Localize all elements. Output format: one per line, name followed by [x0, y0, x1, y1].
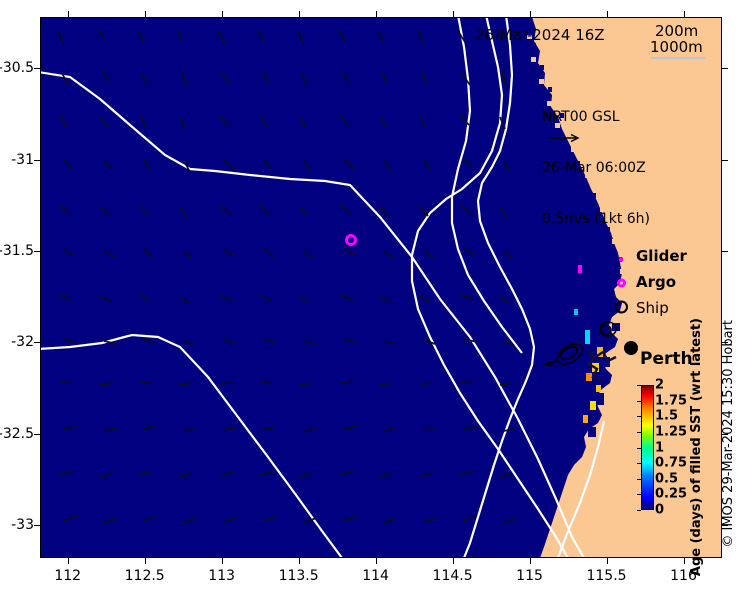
argo-marker — [347, 236, 356, 245]
y-tickmark-right — [722, 251, 728, 252]
argo-ring-icon — [612, 273, 630, 292]
colorbar-tick-label: 0.5 — [655, 471, 678, 486]
colorbar-tickmark — [637, 448, 641, 449]
date-stamp: 26-Mar-2024 16Z — [475, 26, 605, 44]
glider-dot-icon — [612, 247, 630, 266]
x-tickmark — [145, 558, 146, 564]
colorbar-tick-label: 0 — [655, 503, 664, 518]
colorbar-tick-label: 0.25 — [655, 487, 687, 502]
colorbar-tick-label: 2 — [655, 378, 664, 393]
legend-item-glider[interactable]: Glider — [612, 243, 722, 269]
x-axis-tick-label: 116 — [670, 568, 697, 584]
colorbar-title: Age (days) of filled SST (wrt latest) — [689, 318, 704, 576]
colorbar-tickmark — [637, 494, 641, 495]
colorbar-tickmark — [637, 463, 641, 464]
x-tickmark — [376, 558, 377, 564]
glider-track — [588, 350, 616, 380]
y-tickmark-right — [722, 160, 728, 161]
x-axis-tick-label: 115.5 — [586, 568, 626, 584]
y-tickmark — [34, 160, 40, 161]
legend-label-argo: Argo — [636, 273, 676, 291]
x-tickmark — [222, 558, 223, 564]
legend-item-argo[interactable]: Argo — [612, 269, 722, 295]
colorbar-tick-label: 1 — [655, 440, 664, 455]
legend-item-ship[interactable]: Ship — [612, 295, 722, 321]
colorbar-tick-label: 1.5 — [655, 409, 678, 424]
colorbar-tick-label: 1.25 — [655, 424, 687, 439]
y-axis-tick-label: -33 — [0, 517, 34, 533]
y-tickmark-right — [722, 525, 728, 526]
colorbar-tickmark — [637, 401, 641, 402]
x-axis-tick-label: 112.5 — [125, 568, 165, 584]
colorbar-tick-label: 1.75 — [655, 393, 687, 408]
model-name: NRT00 GSL — [542, 109, 650, 126]
colorbar-tickmark — [637, 432, 641, 433]
x-tickmark-top — [68, 11, 69, 17]
colorbar-gradient — [641, 385, 654, 510]
x-tickmark — [453, 558, 454, 564]
x-tickmark — [299, 558, 300, 564]
colorbar-tickmark — [637, 510, 641, 511]
model-valid-time: 26-Mar 06:00Z — [542, 160, 650, 177]
y-axis-tick-label: -31.5 — [0, 243, 34, 259]
y-axis-tick-label: -31 — [0, 152, 34, 168]
x-axis-tick-label: 113.5 — [279, 568, 319, 584]
colorbar-tick-label: 0.75 — [655, 456, 687, 471]
y-tickmark — [34, 251, 40, 252]
y-tickmark-right — [722, 342, 728, 343]
y-tickmark-right — [722, 434, 728, 435]
x-tickmark-top — [607, 11, 608, 17]
y-tickmark — [34, 342, 40, 343]
model-annotation: NRT00 GSL 26-Mar 06:00Z 0.5m/s (1kt 6h) — [542, 75, 650, 262]
y-axis-tick-label: -32 — [0, 334, 34, 350]
colorbar-tickmark — [637, 479, 641, 480]
x-axis-tick-label: 114.5 — [433, 568, 473, 584]
ship-ring-icon — [612, 299, 630, 318]
x-tickmark-top — [145, 11, 146, 17]
x-axis-tick-label: 114 — [362, 568, 389, 584]
velocity-scale-arrow-icon — [549, 133, 585, 143]
x-tickmark-top — [530, 11, 531, 17]
y-axis-tick-label: -32.5 — [0, 426, 34, 442]
y-tickmark — [34, 434, 40, 435]
legend-label-glider: Glider — [636, 247, 687, 265]
x-tickmark — [607, 558, 608, 564]
y-axis-tick-label: -30.5 — [0, 60, 34, 76]
y-tickmark — [34, 68, 40, 69]
sst-age-map-figure: 26-Mar-2024 16Z 200m 1000m NRT00 GSL 26-… — [0, 0, 740, 592]
colorbar-tickmark — [637, 385, 641, 386]
y-tickmark-right — [722, 68, 728, 69]
city-label: Perth — [640, 349, 693, 369]
x-tickmark-top — [684, 11, 685, 17]
colorbar-tickmark — [637, 416, 641, 417]
x-axis-tick-label: 113 — [208, 568, 235, 584]
city-dot-icon — [624, 341, 638, 355]
model-velocity-scale: 0.5m/s (1kt 6h) — [542, 211, 650, 228]
x-axis-tick-label: 112 — [54, 568, 81, 584]
depth-scale-1000m: 1000m — [650, 38, 703, 56]
y-tickmark — [34, 525, 40, 526]
x-tickmark-top — [222, 11, 223, 17]
x-tickmark-top — [376, 11, 377, 17]
ship-track — [544, 322, 616, 368]
x-tickmark-top — [453, 11, 454, 17]
platform-legend: Glider Argo Ship — [612, 243, 722, 321]
legend-label-ship: Ship — [636, 299, 669, 317]
x-tickmark — [684, 558, 685, 564]
x-axis-tick-label: 115 — [516, 568, 543, 584]
x-tickmark-top — [299, 11, 300, 17]
x-tickmark — [68, 558, 69, 564]
depth-scale-rule — [651, 57, 705, 59]
x-tickmark — [530, 558, 531, 564]
